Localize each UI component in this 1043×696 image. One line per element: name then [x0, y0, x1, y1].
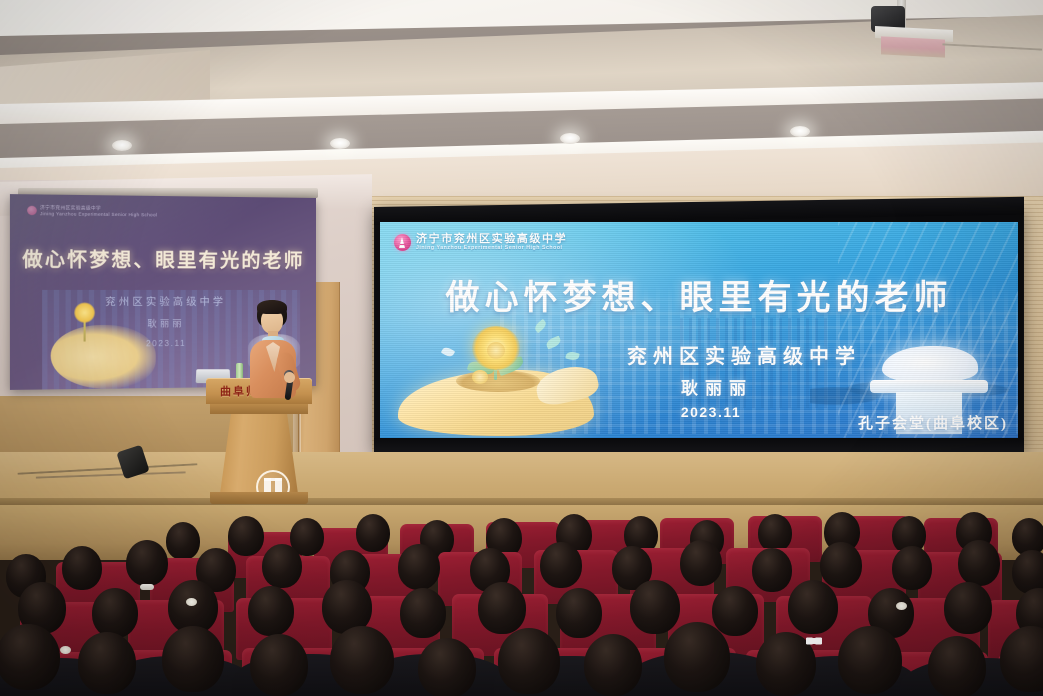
audience-area [0, 506, 1043, 696]
audience-head [498, 628, 560, 694]
projection-title: 做心怀梦想、眼里有光的老师 [10, 244, 316, 273]
led-video-wall: 济宁市兖州区实验高级中学 Jining Yanzhou Experimental… [374, 207, 1024, 452]
audience-head [250, 634, 308, 696]
lectern-body [220, 414, 298, 494]
audience-head [838, 626, 902, 694]
auditorium-photo: 济宁市兖州区实验高级中学 Jining Yanzhou Experimental… [0, 0, 1043, 696]
audience-head [126, 540, 168, 586]
stage-edge [0, 498, 1043, 505]
audience-head [540, 542, 582, 588]
audience-head [584, 634, 642, 696]
audience-head [758, 514, 792, 552]
audience-head [788, 580, 838, 634]
audience-head [228, 516, 264, 556]
slide-school-logo: 济宁市兖州区实验高级中学 Jining Yanzhou Experimental… [394, 233, 567, 252]
audience-head [892, 546, 932, 590]
slide-school-name-cn: 济宁市兖州区实验高级中学 [416, 233, 567, 246]
audience-head [0, 624, 60, 690]
projection-logo-en: Jining Yanzhou Experimental Senior High … [40, 211, 157, 218]
hair-accessory [60, 646, 71, 654]
hair-accessory [186, 598, 197, 606]
school-crest-icon [27, 206, 37, 215]
presenter-fringe [257, 300, 287, 314]
downlight-icon [560, 133, 580, 144]
audience-head [162, 626, 224, 692]
audience-head [62, 546, 102, 590]
lectern-band [210, 404, 308, 414]
downlight-icon [112, 140, 132, 151]
school-crest-icon [394, 234, 411, 251]
led-display: 济宁市兖州区实验高级中学 Jining Yanzhou Experimental… [380, 222, 1018, 439]
audience-head [330, 626, 394, 694]
audience-head [944, 582, 992, 634]
audience-head [712, 586, 758, 636]
water-bottle[interactable] [236, 363, 243, 379]
projection-logo-text: 济宁市兖州区实验高级中学 Jining Yanzhou Experimental… [40, 205, 157, 218]
projector-lens-panel [881, 36, 945, 57]
audience-head [248, 586, 294, 636]
audience-head [400, 588, 446, 638]
ceiling-projector [875, 0, 935, 48]
slide-logo-text: 济宁市兖州区实验高级中学 Jining Yanzhou Experimental… [416, 233, 567, 252]
audience-head [262, 544, 302, 588]
slide-main-title: 做心怀梦想、眼里有光的老师 [380, 270, 1018, 319]
slide-venue: 孔子会堂(曲阜校区) [858, 412, 1008, 433]
slide-organization: 兖州区实验高级中学 [380, 340, 1018, 369]
presenter-hand [284, 372, 295, 383]
audience-head [418, 638, 476, 696]
hair-accessory [896, 602, 907, 610]
audience-head [664, 622, 730, 692]
uniform-collar [140, 584, 154, 590]
downlight-icon [330, 138, 350, 149]
audience-head [958, 540, 1000, 586]
audience-head [928, 636, 986, 696]
audience-head [92, 588, 138, 638]
slide-school-name-en: Jining Yanzhou Experimental Senior High … [416, 246, 567, 252]
audience-head [356, 514, 390, 552]
audience-head [78, 632, 136, 694]
presenter [244, 300, 300, 400]
audience-head [556, 588, 602, 638]
slide-speaker-name: 耿丽丽 [380, 374, 1018, 399]
lectern-base [210, 492, 308, 504]
hair-bow-accessory [806, 636, 822, 646]
audience-head [630, 580, 680, 634]
audience-head [820, 542, 862, 588]
audience-head [478, 582, 526, 634]
audience-head [752, 548, 792, 592]
audience-head [166, 522, 200, 560]
audience-head [680, 540, 722, 586]
led-frame-bottom [374, 438, 1024, 452]
projection-school-logo: 济宁市兖州区实验高级中学 Jining Yanzhou Experimental… [27, 205, 157, 218]
audience-head [398, 544, 440, 590]
downlight-icon [790, 126, 810, 137]
